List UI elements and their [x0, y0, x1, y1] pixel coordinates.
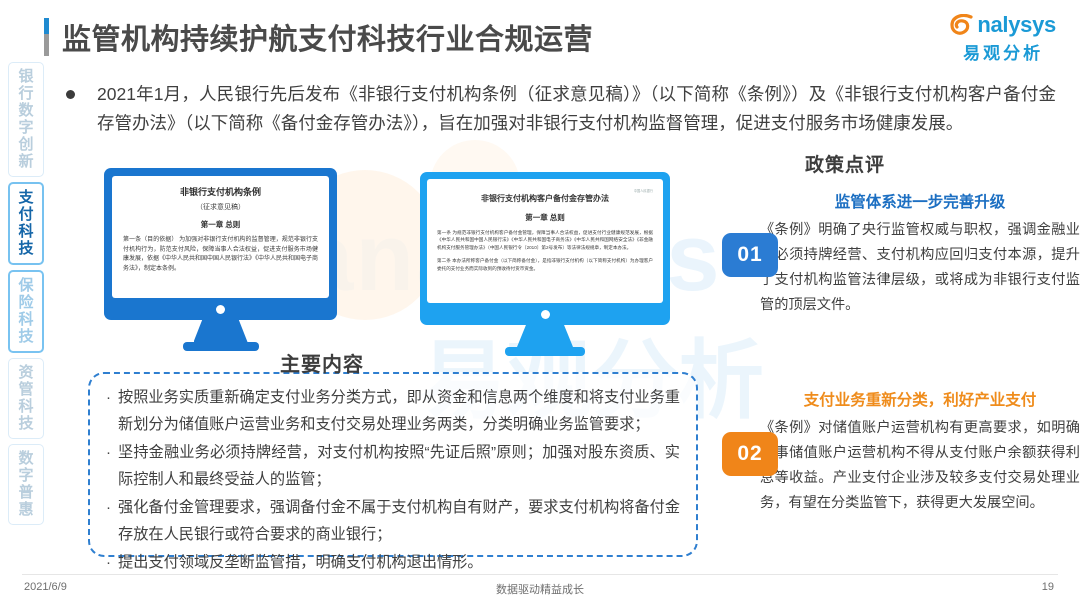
commentary-1-body: 《条例》明确了央行监管权威与职权，强调金融业务必须持牌经营、支付机构应回归支付本… [760, 218, 1080, 318]
monitor-2-chin [427, 303, 663, 325]
commentary-1-heading: 监管体系进一步完善升级 [760, 190, 1080, 212]
lead-text: 2021年1月，人民银行先后发布《非银行支付机构条例（征求意见稿）》（以下简称《… [97, 80, 1056, 138]
sidebar-item-char: 科 [18, 311, 33, 328]
doc-1-body: 第一条（目的依据） 为加强对非银行支付机构的监督管理，规范非银行支付机构行为，防… [123, 236, 318, 274]
commentary-badge-01: 01 [722, 233, 778, 277]
doc-1-title: 非银行支付机构条例 [123, 186, 318, 198]
sidebar-item-char: 技 [18, 328, 33, 345]
monitor-2-bezel: 中国人民银行 非银行支付机构客户备付金存管办法 第一章 总则 第一条 为规范非银… [420, 172, 670, 325]
sidebar: 银行数字创新 支付科技 保险科技 资管科技 数字普惠 [8, 62, 48, 530]
sidebar-item-char: 惠 [18, 501, 33, 518]
doc-2-body-2: 第二条 本办法所称客户备付金（以下简称备付金），是指非银行支付机构（以下简称支付… [437, 257, 653, 272]
doc-2-section: 第一章 总则 [437, 212, 653, 223]
slide-root: analysys 易观分析 监管机构持续护航支付科技行业合规运营 nalysys… [0, 0, 1080, 608]
logo-wordmark: nalysys [977, 12, 1056, 38]
list-bullet-icon: · [106, 439, 111, 493]
sidebar-item-char: 技 [18, 240, 33, 257]
sidebar-item-char: 技 [18, 415, 33, 432]
commentary-block-2: 支付业务重新分类，利好产业支付 《条例》对储值账户运营机构有更高要求，如明确从事… [760, 388, 1080, 516]
commentary-badge-02: 02 [722, 432, 778, 476]
sidebar-item-digital-inclusive[interactable]: 数字普惠 [8, 444, 44, 525]
footer-page-number: 19 [1042, 581, 1054, 593]
list-item-text: 强化备付金管理要求，强调备付金不属于支付机构自有财产，要求支付机构将备付金存放在… [118, 494, 680, 548]
sidebar-item-payment-tech[interactable]: 支付科技 [8, 182, 44, 265]
title-accent-bar [44, 18, 49, 56]
monitor-1-screen: 非银行支付机构条例 （征求意见稿） 第一章 总则 第一条（目的依据） 为加强对非… [112, 176, 329, 298]
main-content-box: · 按照业务实质重新确定支付业务分类方式，即从资金和信息两个维度和将支付业务重新… [88, 372, 698, 557]
footer: 2021/6/9 数据驱动精益成长 19 [0, 574, 1080, 600]
sidebar-item-char: 普 [18, 484, 33, 501]
commentary-title: 政策点评 [805, 150, 885, 177]
sidebar-item-bank-digital-innovation[interactable]: 银行数字创新 [8, 62, 44, 177]
sidebar-item-char: 险 [18, 294, 33, 311]
footer-slogan: 数据驱动精益成长 [496, 581, 584, 597]
list-bullet-icon: · [106, 384, 111, 438]
bullet-dot-icon [66, 90, 75, 99]
logo-chinese: 易观分析 [950, 39, 1056, 64]
list-item: · 按照业务实质重新确定支付业务分类方式，即从资金和信息两个维度和将支付业务重新… [106, 384, 680, 438]
doc-2-title: 非银行支付机构客户备付金存管办法 [437, 193, 653, 205]
sidebar-item-char: 支 [18, 189, 33, 206]
monitor-1-chin [112, 298, 329, 320]
list-bullet-icon: · [106, 549, 111, 576]
sidebar-item-char: 创 [18, 136, 33, 153]
list-item-text: 坚持金融业务必须持牌经营，对支付机构按照“先证后照”原则；加强对股东资质、实际控… [118, 439, 680, 493]
sidebar-item-char: 数 [18, 102, 33, 119]
monitor-1-bezel: 非银行支付机构条例 （征求意见稿） 第一章 总则 第一条（目的依据） 为加强对非… [104, 168, 337, 320]
page-title-group: 监管机构持续护航支付科技行业合规运营 [44, 16, 593, 58]
sidebar-item-char: 科 [18, 398, 33, 415]
doc-1-subtitle: （征求意见稿） [123, 202, 318, 212]
sidebar-item-char: 数 [18, 450, 33, 467]
sidebar-item-char: 付 [18, 206, 33, 223]
sidebar-item-char: 资 [18, 364, 33, 381]
sidebar-item-char: 管 [18, 381, 33, 398]
list-item: · 强化备付金管理要求，强调备付金不属于支付机构自有财产，要求支付机构将备付金存… [106, 494, 680, 548]
sidebar-item-insurance-tech[interactable]: 保险科技 [8, 270, 44, 353]
sidebar-item-char: 字 [18, 119, 33, 136]
page-title: 监管机构持续护航支付科技行业合规运营 [62, 16, 593, 58]
footer-divider [22, 574, 1058, 575]
monitor-2-neck [517, 325, 573, 347]
monitor-1-base [183, 342, 259, 351]
doc-1-section: 第一章 总则 [123, 219, 318, 230]
monitor-1-neck [194, 320, 248, 342]
list-item-text: 提出支付领域反垄断监管措，明确支付机构退出情形。 [118, 549, 483, 576]
footer-date: 2021/6/9 [24, 581, 67, 593]
commentary-block-1: 监管体系进一步完善升级 《条例》明确了央行监管权威与职权，强调金融业务必须持牌经… [760, 190, 1080, 318]
sidebar-item-char: 字 [18, 467, 33, 484]
list-item-text: 按照业务实质重新确定支付业务分类方式，即从资金和信息两个维度和将支付业务重新划分… [118, 384, 680, 438]
monitor-2-power-dot-icon [541, 310, 550, 319]
a-swirl-icon [950, 14, 976, 36]
sidebar-item-char: 银 [18, 68, 33, 85]
list-bullet-icon: · [106, 494, 111, 548]
monitor-1-power-dot-icon [216, 305, 225, 314]
monitor-1: 非银行支付机构条例 （征求意见稿） 第一章 总则 第一条（目的依据） 为加强对非… [104, 168, 337, 351]
list-item: · 坚持金融业务必须持牌经营，对支付机构按照“先证后照”原则；加强对股东资质、实… [106, 439, 680, 493]
commentary-2-body: 《条例》对储值账户运营机构有更高要求，如明确从事储值账户运营机构不得从支付账户余… [760, 416, 1080, 516]
lead-paragraph: 2021年1月，人民银行先后发布《非银行支付机构条例（征求意见稿）》（以下简称《… [66, 80, 1056, 138]
commentary-2-heading: 支付业务重新分类，利好产业支付 [760, 388, 1080, 410]
sidebar-item-char: 保 [18, 277, 33, 294]
monitor-2: 中国人民银行 非银行支付机构客户备付金存管办法 第一章 总则 第一条 为规范非银… [420, 172, 670, 356]
doc-2-body: 第一条 为规范非银行支付机构客户备付金管理，保障当事人合法权益，促进支付行业健康… [437, 229, 653, 251]
sidebar-item-asset-management-tech[interactable]: 资管科技 [8, 358, 44, 439]
monitor-2-screen: 中国人民银行 非银行支付机构客户备付金存管办法 第一章 总则 第一条 为规范非银… [427, 179, 663, 303]
sidebar-item-char: 新 [18, 153, 33, 170]
sidebar-item-char: 科 [18, 223, 33, 240]
sidebar-item-char: 行 [18, 85, 33, 102]
main-content-heading: 主要内容 [280, 348, 364, 377]
analysys-logo: nalysys 易观分析 [950, 12, 1056, 64]
list-item: · 提出支付领域反垄断监管措，明确支付机构退出情形。 [106, 549, 680, 576]
monitor-2-base [505, 347, 585, 356]
